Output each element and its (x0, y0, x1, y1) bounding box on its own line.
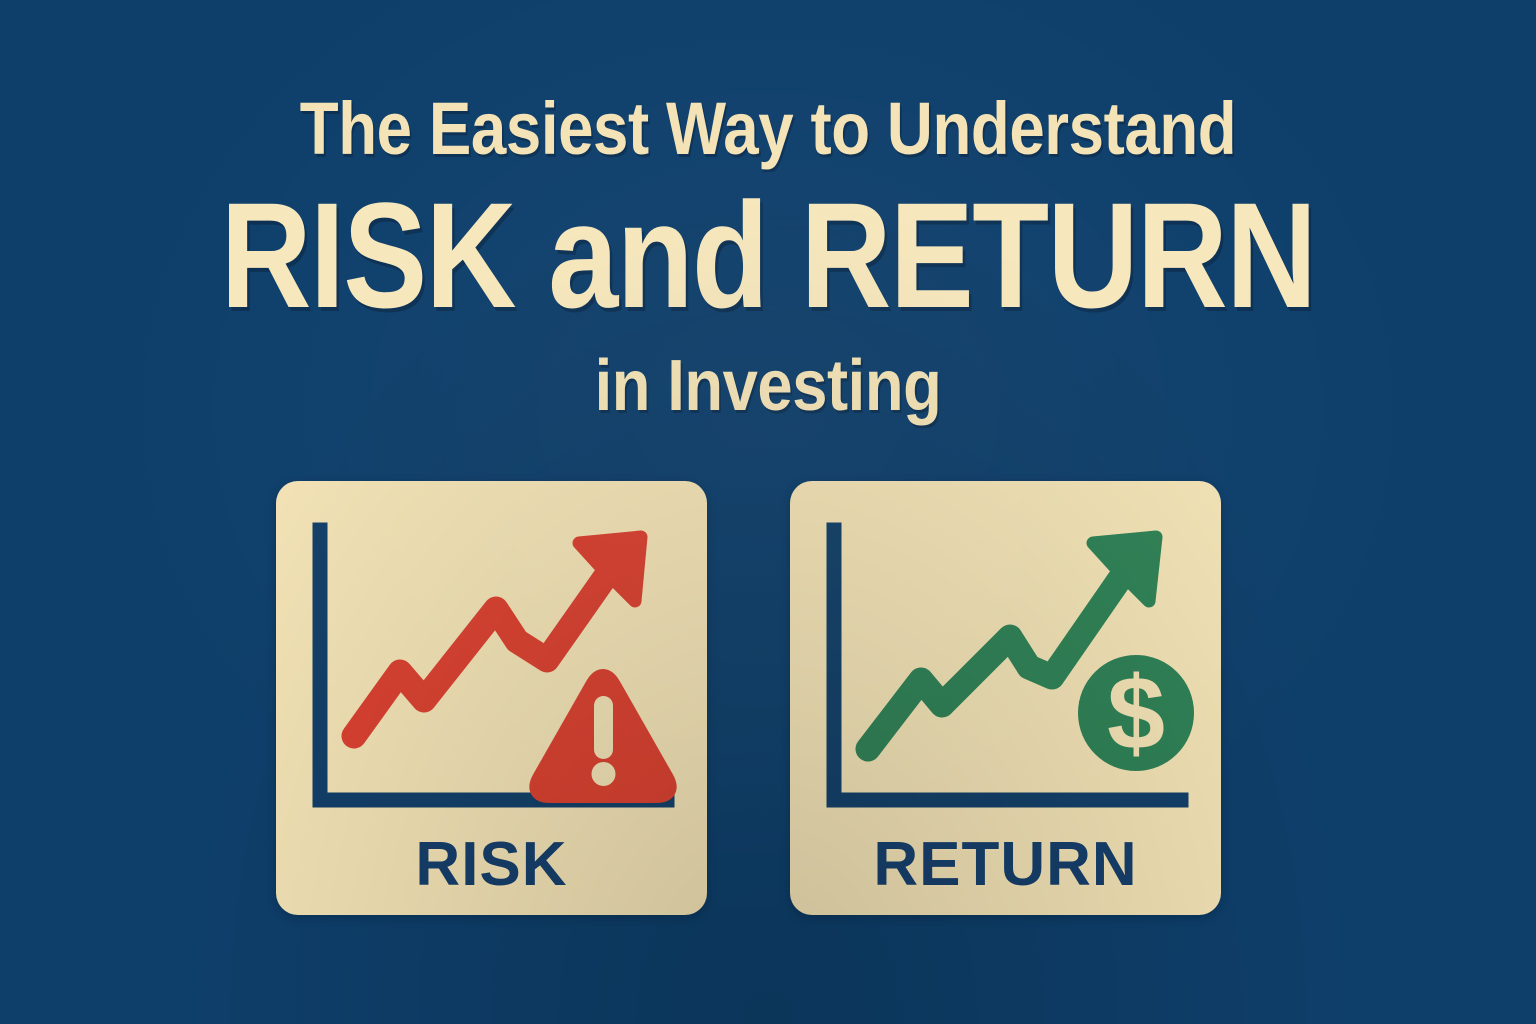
dollar-coin-icon: $ (1078, 655, 1194, 772)
dollar-glyph: $ (1107, 656, 1165, 772)
exclamation-dot (592, 762, 616, 786)
card-return-label: RETURN (790, 833, 1221, 897)
headline-line-2: RISK and RETURN (123, 180, 1413, 330)
headline-line-3: in Investing (92, 346, 1444, 426)
card-risk[interactable]: RISK (276, 481, 707, 915)
exclamation-bar (594, 696, 613, 759)
card-risk-label: RISK (276, 833, 707, 897)
headline-line-1: The Easiest Way to Understand (108, 86, 1429, 172)
card-return[interactable]: $ RETURN (790, 481, 1221, 915)
warning-triangle-icon (539, 679, 666, 793)
page-title: The Easiest Way to Understand RISK and R… (0, 86, 1536, 426)
